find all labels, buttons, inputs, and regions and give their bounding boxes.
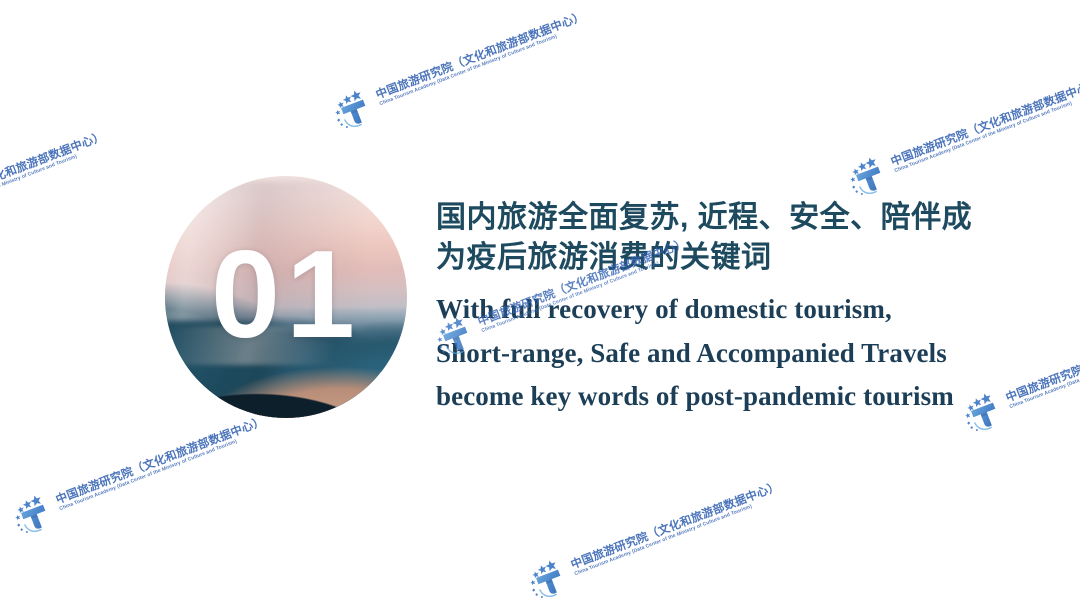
page-subtitle: With full recovery of domestic tourism, … — [436, 288, 1016, 419]
page-subtitle-line-3: become key words of post-pandemic touris… — [436, 375, 1016, 419]
page-title-line-1: 国内旅游全面复苏, 近程、安全、陪伴成 — [436, 201, 972, 234]
china-tourism-academy-logo-icon — [2, 486, 59, 543]
section-number-badge: 01 — [165, 176, 407, 418]
watermark-text-zh: 中国旅游研究院（文化和旅游部数据中心） — [569, 480, 781, 571]
watermark-text-zh: 中国旅游研究院（文化和旅游部数据中心） — [374, 10, 586, 101]
china-tourism-academy-logo-icon — [517, 551, 574, 608]
watermark-text: 中国旅游研究院（文化和旅游部数据中心）China Tourism Academy… — [54, 415, 268, 512]
page-subtitle-line-2: Short-range, Safe and Accompanied Travel… — [436, 332, 1016, 376]
watermark: 中国旅游研究院（文化和旅游部数据中心）China Tourism Academy… — [2, 404, 273, 543]
page-subtitle-line-1: With full recovery of domestic tourism, — [436, 288, 1016, 332]
watermark-text-en: China Tourism Academy (Data Center of th… — [59, 428, 268, 513]
watermark-text: 中国旅游研究院（文化和旅游部数据中心）China Tourism Academy… — [889, 77, 1080, 174]
watermark: 中国旅游研究院（文化和旅游部数据中心）China Tourism Academy… — [0, 119, 113, 258]
page-title-line-2: 为疫后旅游消费的关键词 — [436, 238, 1016, 278]
watermark-text-en: China Tourism Academy (Data Center of th… — [0, 143, 109, 228]
watermark-text-zh: 中国旅游研究院（文化和旅游部数据中心） — [889, 77, 1080, 168]
section-number: 01 — [165, 176, 407, 418]
china-tourism-academy-logo-icon — [837, 148, 894, 205]
watermark-text: 中国旅游研究院（文化和旅游部数据中心）China Tourism Academy… — [374, 10, 588, 107]
watermark-text: 中国旅游研究院（文化和旅游部数据中心）China Tourism Academy… — [0, 130, 109, 227]
china-tourism-academy-logo-icon — [322, 81, 379, 138]
page-title: 国内旅游全面复苏, 近程、安全、陪伴成 为疫后旅游消费的关键词 — [436, 198, 1016, 278]
watermark-text-en: China Tourism Academy (Data Center of th… — [1009, 326, 1080, 411]
copy-block: 国内旅游全面复苏, 近程、安全、陪伴成 为疫后旅游消费的关键词 With ful… — [436, 198, 1016, 419]
slide-canvas: 01 国内旅游全面复苏, 近程、安全、陪伴成 为疫后旅游消费的关键词 With … — [0, 0, 1080, 608]
watermark-text-en: China Tourism Academy (Data Center of th… — [894, 90, 1080, 175]
watermark: 中国旅游研究院（文化和旅游部数据中心）China Tourism Academy… — [517, 469, 788, 608]
watermark: 中国旅游研究院（文化和旅游部数据中心）China Tourism Academy… — [837, 66, 1080, 205]
watermark-text-en: China Tourism Academy (Data Center of th… — [379, 23, 588, 108]
watermark: 中国旅游研究院（文化和旅游部数据中心）China Tourism Academy… — [322, 0, 593, 138]
watermark-text: 中国旅游研究院（文化和旅游部数据中心）China Tourism Academy… — [569, 480, 783, 577]
watermark-text-zh: 中国旅游研究院（文化和旅游部数据中心） — [54, 415, 266, 506]
watermark-text-zh: 中国旅游研究院（文化和旅游部数据中心） — [0, 130, 106, 221]
watermark-text-en: China Tourism Academy (Data Center of th… — [574, 493, 783, 578]
